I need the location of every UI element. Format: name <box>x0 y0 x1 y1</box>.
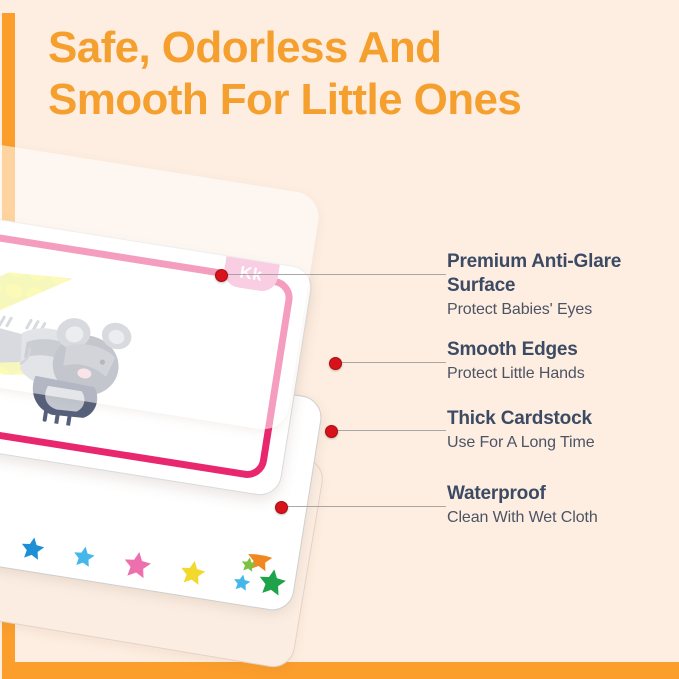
page-title: Safe, Odorless And Smooth For Little One… <box>48 22 648 126</box>
connector-line-1 <box>224 274 446 275</box>
callout-dot-2 <box>329 357 342 370</box>
frame-bottom-bar <box>2 662 679 679</box>
feature-subtitle-1: Protect Babies' Eyes <box>447 299 672 321</box>
connector-line-2 <box>338 362 446 363</box>
feature-title-4: Waterproof <box>447 482 672 506</box>
callout-dot-1 <box>215 269 228 282</box>
title-line-2: Smooth For Little Ones <box>48 74 648 126</box>
feature-item-3: Thick Cardstock Use For A Long Time <box>447 407 672 454</box>
feature-subtitle-4: Clean With Wet Cloth <box>447 507 672 529</box>
connector-line-4 <box>284 506 446 507</box>
flashcard-stack: Kk <box>0 140 410 580</box>
callout-dot-3 <box>325 425 338 438</box>
feature-title-3: Thick Cardstock <box>447 407 672 431</box>
callout-dot-4 <box>275 501 288 514</box>
title-line-1: Safe, Odorless And <box>48 22 648 74</box>
feature-item-4: Waterproof Clean With Wet Cloth <box>447 482 672 529</box>
feature-subtitle-2: Protect Little Hands <box>447 363 672 385</box>
feature-item-2: Smooth Edges Protect Little Hands <box>447 338 672 385</box>
connector-line-3 <box>334 430 446 431</box>
feature-item-1: Premium Anti-Glare Surface Protect Babie… <box>447 250 672 321</box>
anti-glare-sheet <box>0 124 322 433</box>
feature-subtitle-3: Use For A Long Time <box>447 432 672 454</box>
promo-banner: Safe, Odorless And Smooth For Little One… <box>0 0 679 679</box>
feature-title-2: Smooth Edges <box>447 338 672 362</box>
feature-title-1: Premium Anti-Glare Surface <box>447 250 672 298</box>
